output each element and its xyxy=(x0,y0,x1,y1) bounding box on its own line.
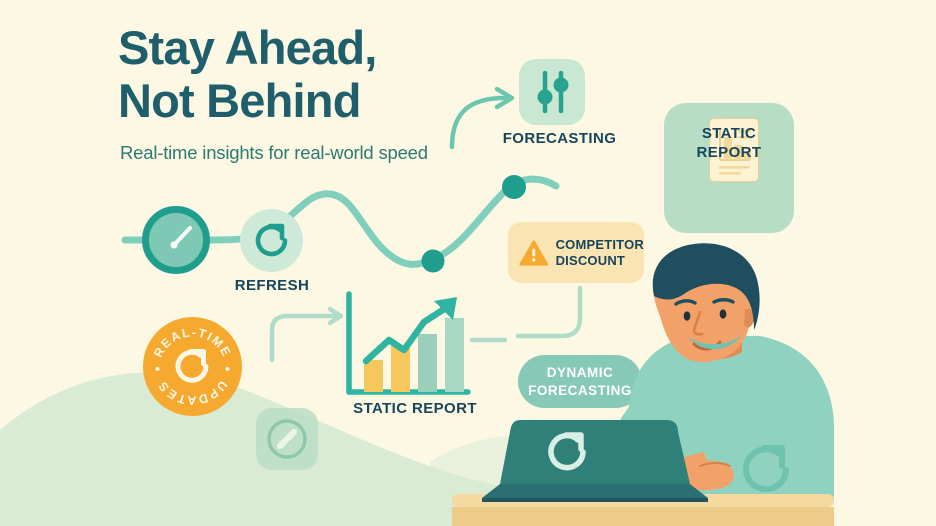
desk-front xyxy=(452,507,834,526)
person-eye-right xyxy=(720,309,727,318)
laptop-base-edge xyxy=(482,498,708,502)
person-at-laptop-illustration xyxy=(0,0,936,526)
poster-canvas: Stay Ahead, Not Behind Real-time insight… xyxy=(0,0,936,526)
laptop-screen xyxy=(500,420,690,484)
laptop-base xyxy=(482,484,708,498)
person-eye-left xyxy=(684,311,691,320)
